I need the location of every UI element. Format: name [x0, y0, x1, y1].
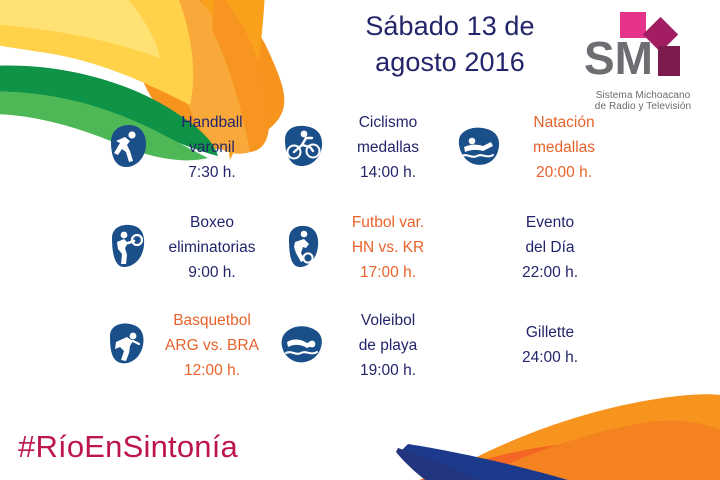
- event-handball[interactable]: Handball varonil 7:30 h.: [95, 108, 271, 204]
- event-voleibol[interactable]: Voleibol de playa 19:00 h.: [271, 306, 447, 402]
- event-ciclismo-text: Ciclismo medallas 14:00 h.: [329, 110, 447, 185]
- event-futbol-text: Futbol var. HN vs. KR 17:00 h.: [329, 210, 447, 285]
- title-line-1: Sábado 13 de: [300, 8, 600, 44]
- event-futbol[interactable]: Futbol var. HN vs. KR 17:00 h.: [271, 208, 447, 304]
- event-line: 9:00 h.: [153, 260, 271, 285]
- event-basquetbol-text: Basquetbol ARG vs. BRA 12:00 h.: [153, 308, 271, 383]
- event-basquetbol[interactable]: Basquetbol ARG vs. BRA 12:00 h.: [95, 306, 271, 402]
- schedule-grid: Handball varonil 7:30 h. Ciclismo medall…: [95, 108, 625, 398]
- event-evento-del-dia-text: Evento del Día 22:00 h.: [477, 210, 623, 285]
- title-line-2: agosto 2016: [300, 44, 600, 80]
- deco-navy-bottom: [400, 444, 600, 480]
- event-natacion-text: Natación medallas 20:00 h.: [505, 110, 623, 185]
- event-line: 20:00 h.: [505, 160, 623, 185]
- basketball-icon: [103, 320, 151, 368]
- logo-caption-line-1: Sistema Michoacano: [572, 90, 714, 101]
- hashtag-campaign: #RíoEnSintonía: [18, 428, 238, 466]
- deco-orange-dark-bottom: [395, 442, 720, 480]
- event-line: Natación: [505, 110, 623, 135]
- event-line: Gillette: [477, 320, 623, 345]
- cycling-icon: [279, 122, 327, 170]
- event-boxeo[interactable]: Boxeo eliminatorias 9:00 h.: [95, 208, 271, 304]
- event-line: Handball: [153, 110, 271, 135]
- boxing-icon: [103, 222, 151, 270]
- event-line: varonil: [153, 135, 271, 160]
- event-line: medallas: [329, 135, 447, 160]
- event-line: de playa: [329, 333, 447, 358]
- page-title: Sábado 13 de agosto 2016: [300, 8, 600, 80]
- deco-orange-bottom-2: [455, 421, 720, 480]
- event-gillette[interactable]: Gillette 24:00 h.: [447, 306, 623, 402]
- logo-purple-block: [658, 46, 680, 76]
- event-handball-text: Handball varonil 7:30 h.: [153, 110, 271, 185]
- event-line: Futbol var.: [329, 210, 447, 235]
- event-line: ARG vs. BRA: [153, 333, 271, 358]
- event-natacion[interactable]: Natación medallas 20:00 h.: [447, 108, 623, 204]
- event-line: 22:00 h.: [477, 260, 623, 285]
- poster-canvas: Sábado 13 de agosto 2016 SM Sistema Mich…: [0, 0, 720, 480]
- event-line: 7:30 h.: [153, 160, 271, 185]
- event-boxeo-text: Boxeo eliminatorias 9:00 h.: [153, 210, 271, 285]
- deco-navy-sliver: [396, 448, 500, 480]
- beach-volleyball-icon: [279, 320, 327, 368]
- event-line: eliminatorias: [153, 235, 271, 260]
- sm-logo-mark: SM: [572, 6, 714, 84]
- deco-yellow-top: [0, 0, 193, 105]
- event-line: 19:00 h.: [329, 358, 447, 383]
- event-line: Basquetbol: [153, 308, 271, 333]
- event-evento-del-dia[interactable]: Evento del Día 22:00 h.: [447, 208, 623, 304]
- event-line: Evento: [477, 210, 623, 235]
- event-line: Ciclismo: [329, 110, 447, 135]
- event-line: HN vs. KR: [329, 235, 447, 260]
- event-voleibol-text: Voleibol de playa 19:00 h.: [329, 308, 447, 383]
- handball-icon: [103, 122, 151, 170]
- event-line: Voleibol: [329, 308, 447, 333]
- event-line: del Día: [477, 235, 623, 260]
- event-line: 14:00 h.: [329, 160, 447, 185]
- logo-wordmark: SM: [584, 32, 653, 84]
- brand-logo: SM Sistema Michoacano de Radio y Televis…: [572, 6, 714, 110]
- event-gillette-text: Gillette 24:00 h.: [477, 320, 623, 370]
- event-line: 17:00 h.: [329, 260, 447, 285]
- event-line: medallas: [505, 135, 623, 160]
- event-line: 12:00 h.: [153, 358, 271, 383]
- event-line: Boxeo: [153, 210, 271, 235]
- event-ciclismo[interactable]: Ciclismo medallas 14:00 h.: [271, 108, 447, 204]
- deco-yellow-light-top: [0, 0, 160, 58]
- deco-orange-bottom: [420, 394, 720, 480]
- swimming-icon: [455, 122, 503, 170]
- football-icon: [279, 222, 327, 270]
- event-line: 24:00 h.: [477, 345, 623, 370]
